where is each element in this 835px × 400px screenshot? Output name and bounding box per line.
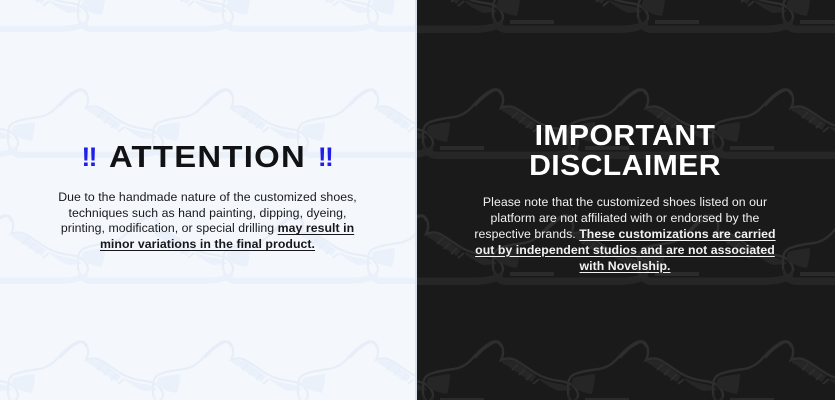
disclaimer-panel: IMPORTANT DISCLAIMER Please note that th… [415, 0, 835, 400]
customization-disclaimer-banner: ‼ATTENTION‼ Due to the handmade nature o… [0, 0, 835, 400]
attention-heading: ‼ATTENTION‼ [30, 141, 385, 174]
attention-panel: ‼ATTENTION‼ Due to the handmade nature o… [0, 0, 415, 400]
double-exclamation-icon-left: ‼ [82, 143, 97, 172]
disclaimer-heading-line1: IMPORTANT [448, 122, 802, 152]
disclaimer-heading: IMPORTANT DISCLAIMER [448, 122, 802, 182]
disclaimer-body: Please note that the customized shoes li… [466, 195, 784, 274]
attention-body: Due to the handmade nature of the custom… [53, 190, 363, 253]
disclaimer-heading-line2: DISCLAIMER [448, 152, 802, 182]
attention-heading-text: ATTENTION [109, 139, 306, 174]
attention-content: ‼ATTENTION‼ Due to the handmade nature o… [0, 141, 415, 253]
double-exclamation-icon-right: ‼ [318, 143, 333, 172]
disclaimer-content: IMPORTANT DISCLAIMER Please note that th… [415, 122, 835, 275]
